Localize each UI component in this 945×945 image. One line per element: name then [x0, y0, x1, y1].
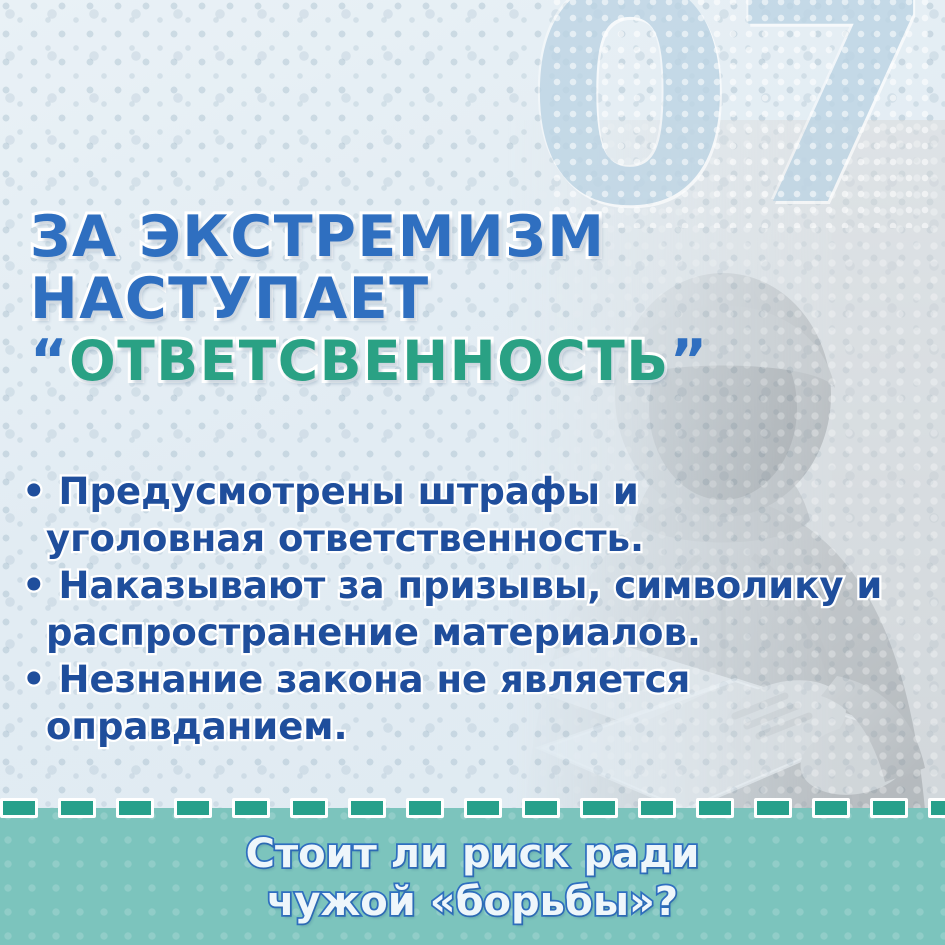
bullet-1-line-1: • Предусмотрены штрафы и [22, 468, 812, 515]
bullet-2-line-2: распространение материалов. [22, 609, 812, 656]
dashed-divider [0, 797, 945, 819]
footer-line-2: чужой «борьбы»? [0, 878, 945, 926]
headline-block: ЗА ЭКСТРЕМИЗМ НАСТУПАЕТ “ОТВЕТСВЕННОСТЬ” [30, 206, 860, 392]
dash-segment [174, 798, 212, 818]
headline-line-2: НАСТУПАЕТ [30, 268, 860, 330]
dash-segment [348, 798, 386, 818]
dash-segment [580, 798, 618, 818]
footer-banner: Стоит ли риск ради чужой «борьбы»? [0, 808, 945, 945]
dash-segment [464, 798, 502, 818]
dash-segment [0, 798, 38, 818]
bullet-2-line-1: • Наказывают за призывы, символику и [22, 562, 812, 609]
bullet-1-line-2: уголовная ответственность. [22, 515, 812, 562]
dash-segment [638, 798, 676, 818]
dash-segment [290, 798, 328, 818]
bullet-3-line-1: • Незнание закона не является [22, 656, 812, 703]
footer-text-block: Стоит ли риск ради чужой «борьбы»? [0, 830, 945, 926]
headline-keyword: ОТВЕТСВЕННОСТЬ [69, 329, 670, 393]
footer-line-1: Стоит ли риск ради [0, 830, 945, 878]
dash-segment [870, 798, 908, 818]
headline-line-1: ЗА ЭКСТРЕМИЗМ [30, 206, 860, 268]
headline-close-quote: ” [670, 328, 709, 394]
dash-segment [406, 798, 444, 818]
dash-segment [116, 798, 154, 818]
bullet-3-line-2: оправданием. [22, 703, 812, 750]
dash-segment [812, 798, 850, 818]
dash-segment [522, 798, 560, 818]
dash-segment [58, 798, 96, 818]
dash-segment [754, 798, 792, 818]
headline-line-3: “ОТВЕТСВЕННОСТЬ” [30, 330, 860, 392]
poster-canvas: 07 ЗА ЭКСТРЕМИЗМ НАСТУПАЕТ “ОТВЕТСВЕННОС… [0, 0, 945, 945]
headline-open-quote: “ [30, 328, 69, 394]
body-bullet-list: • Предусмотрены штрафы и уголовная ответ… [22, 468, 812, 750]
dash-segment [232, 798, 270, 818]
dash-segment [928, 798, 945, 818]
dash-segment [696, 798, 734, 818]
